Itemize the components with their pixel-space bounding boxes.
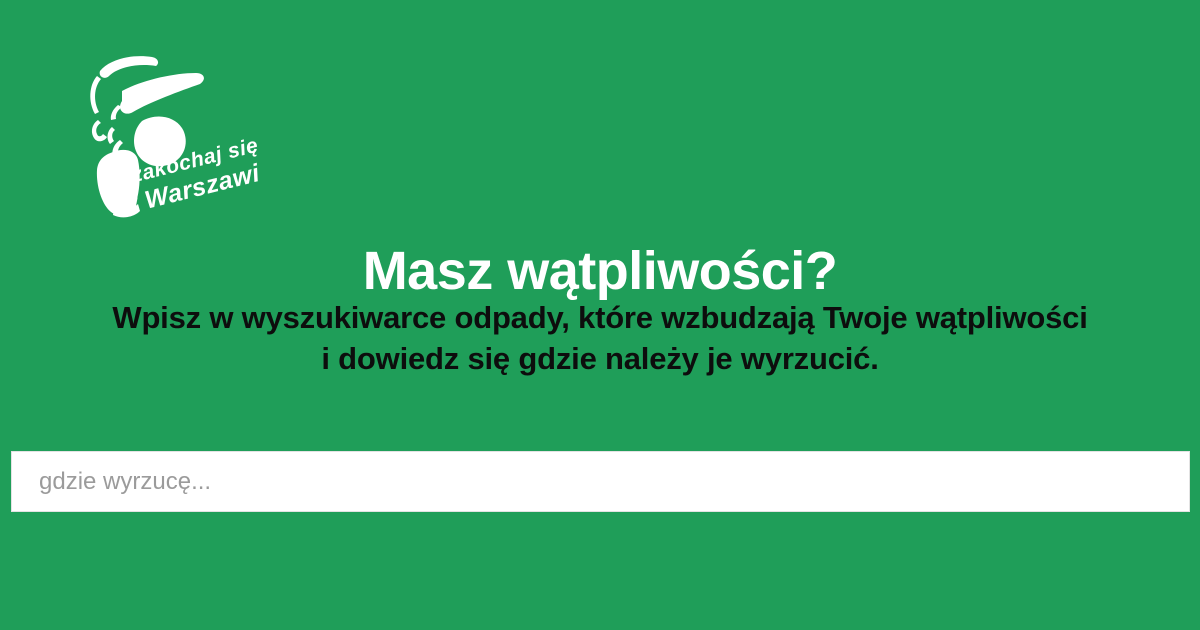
subheading-line-1: Wpisz w wyszukiwarce odpady, które wzbud… [0,298,1200,339]
mermaid-logo-icon: zakochaj się w Warszawie [80,48,260,220]
zakochaj-sie-w-warszawie-logo: zakochaj się w Warszawie [80,48,260,220]
search-field-container[interactable] [11,451,1190,512]
search-input[interactable] [12,452,1189,511]
page-subheading: Wpisz w wyszukiwarce odpady, które wzbud… [0,298,1200,380]
subheading-line-2: i dowiedz się gdzie należy je wyrzucić. [0,339,1200,380]
page-heading: Masz wątpliwości? [0,242,1200,301]
page-root: zakochaj się w Warszawie Masz wątpliwośc… [0,0,1200,630]
